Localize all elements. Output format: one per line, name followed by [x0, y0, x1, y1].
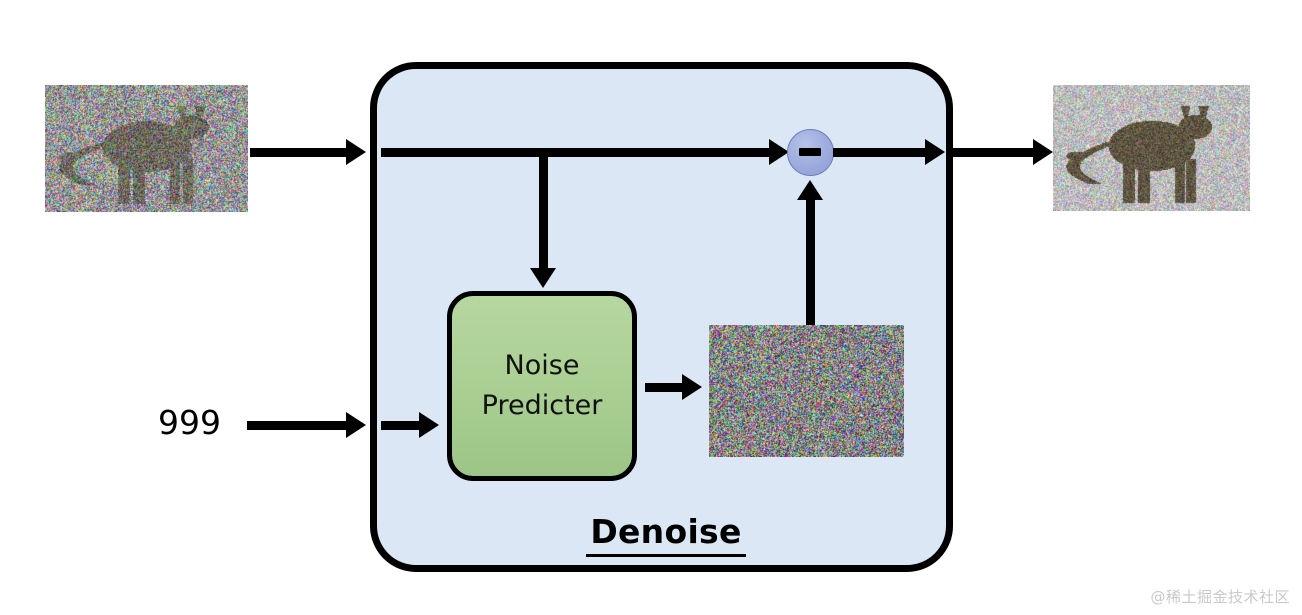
noise-predicter-label-line1: Noise [505, 346, 580, 386]
minus-icon [799, 148, 821, 156]
timestep-arrow-inside-line [381, 421, 423, 430]
output-line-outside [953, 148, 1041, 157]
skip-connection-head [769, 139, 789, 165]
branch-vertical-line [539, 150, 548, 272]
timestep-label: 999 [158, 403, 221, 443]
denoise-title: Denoise [586, 512, 746, 557]
output-denoised-image [1053, 85, 1250, 211]
predicter-output-head [682, 374, 702, 400]
timestep-arrow-inside-head [419, 412, 439, 438]
arrow-input-image-head [346, 139, 366, 165]
timestep-arrow-line [247, 421, 348, 430]
input-noisy-image [45, 85, 248, 212]
predicted-noise-image [709, 325, 904, 457]
noise-predicter-node[interactable]: Noise Predicter [447, 291, 637, 481]
timestep-arrow-head [346, 412, 366, 438]
predicted-noise-up-head [797, 180, 823, 200]
arrow-input-image-line [250, 148, 348, 157]
branch-vertical-head [530, 268, 556, 288]
skip-connection-line [381, 148, 773, 157]
predicter-output-line [645, 383, 685, 392]
noise-predicter-label-line2: Predicter [482, 386, 603, 426]
output-head-outside [1033, 139, 1053, 165]
output-head-inside [925, 139, 945, 165]
predicted-noise-up-line [806, 196, 815, 326]
output-line-inside [833, 148, 929, 157]
watermark: @稀土掘金技术社区 [1150, 586, 1290, 607]
diagram-canvas: Noise Predicter Denoise 999 @稀土掘金技术社区 [0, 0, 1302, 615]
